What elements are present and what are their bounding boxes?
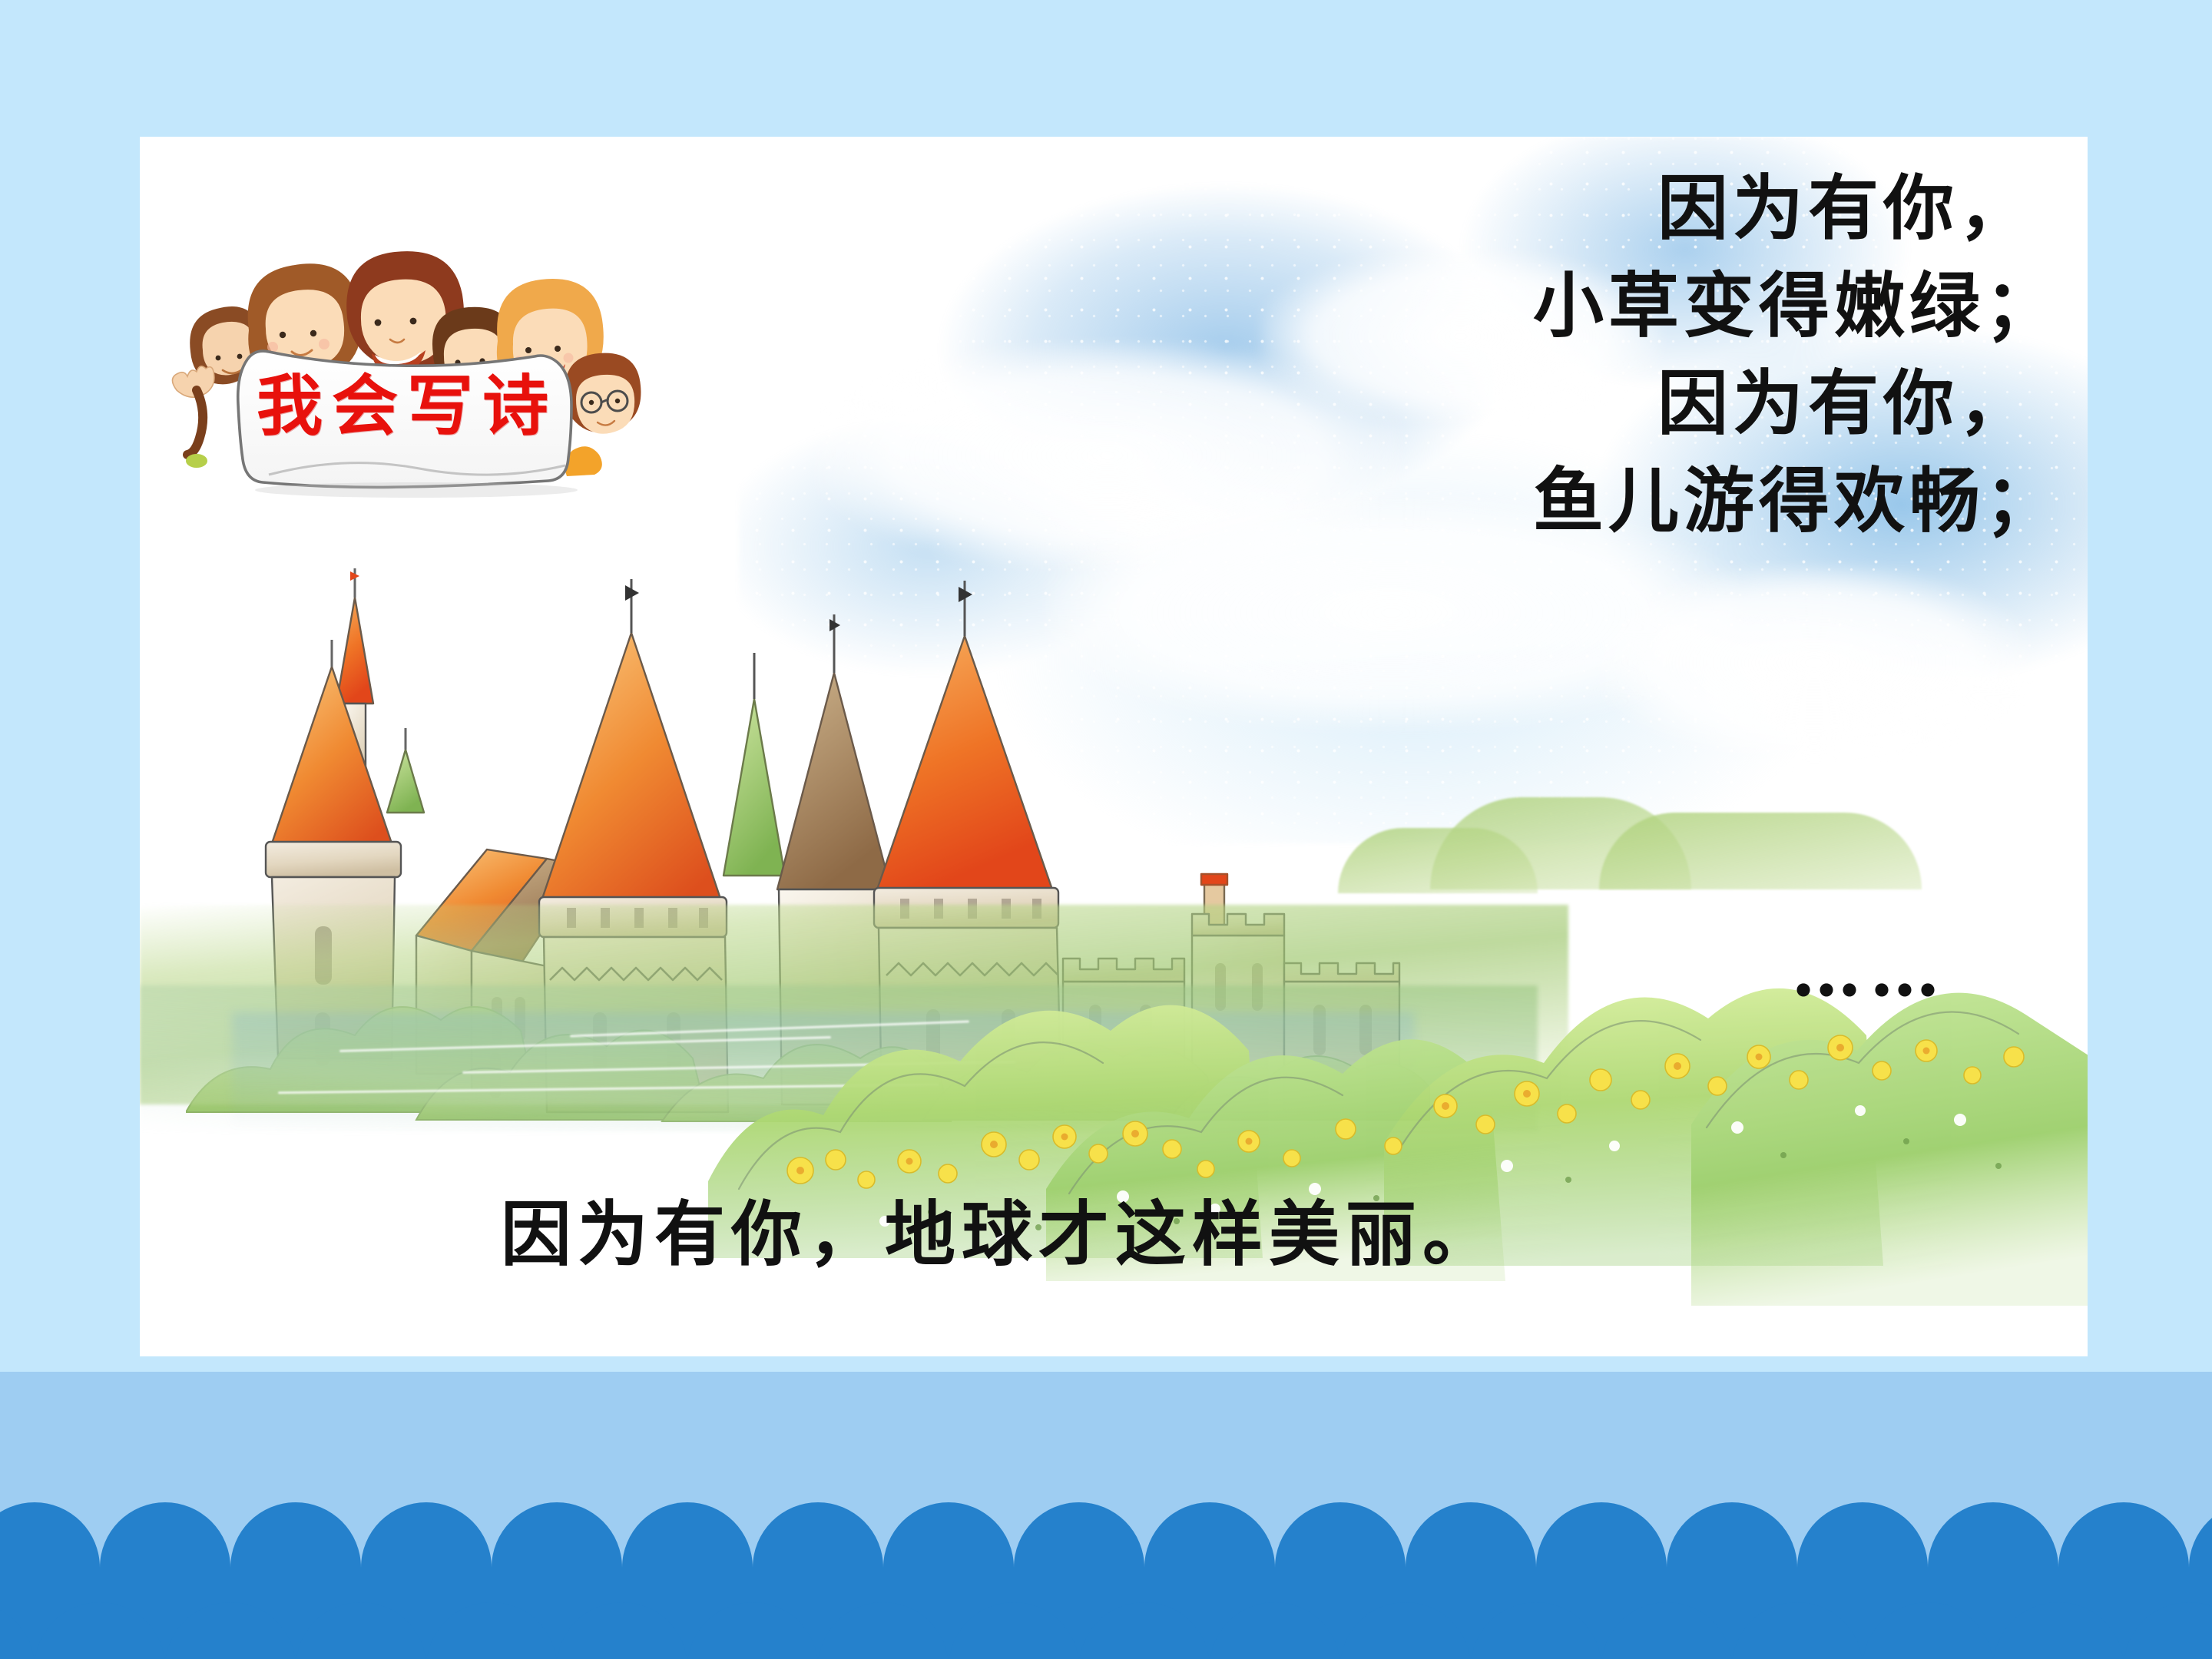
arch-shape [35,1602,165,1659]
arch-shape [165,1602,296,1659]
poem-line: 鱼儿游得欢畅； [1323,452,2060,550]
arch-shape [949,1602,1079,1659]
arch-shape [296,1602,426,1659]
poem-text: 因为有你， 小草变得嫩绿； 因为有你， 鱼儿游得欢畅； [1323,160,2060,550]
poem-stanza-2: 因为有你， 鱼儿游得欢畅； [1323,355,2060,550]
arch-row-bottom [0,1602,2212,1659]
arch-shape [1993,1602,2124,1659]
arch-shape [1340,1602,1471,1659]
poem-line: 小草变得嫩绿； [1323,257,2060,355]
arch-shape [818,1602,949,1659]
poem-closing-line: 因为有你，地球才这样美丽。 [501,1177,1499,1280]
arch-shape [1732,1602,1863,1659]
arch-shape [1601,1602,1732,1659]
slide-root: 我会写诗 因为有你， 小草变得嫩绿； 因为有你， 鱼儿游得欢畅； …… 因为有你… [0,0,2212,1659]
arch-shape [687,1602,818,1659]
poem-ellipsis: …… [1791,935,1948,1006]
bottom-decoration-band [0,1372,2212,1659]
arch-shape [1210,1602,1340,1659]
poem-line: 因为有你， [1323,355,2060,452]
arch-shape [2124,1602,2212,1659]
arch-shape [1471,1602,1601,1659]
poem-line: 因为有你， [1323,160,2060,257]
arch-shape [557,1602,687,1659]
content-card: 我会写诗 因为有你， 小草变得嫩绿； 因为有你， 鱼儿游得欢畅； …… 因为有你… [140,137,2088,1356]
arch-shape [0,1602,35,1659]
banner-title: 我会写诗 [253,353,561,445]
arch-shape [426,1602,557,1659]
children-group-illustration: 我会写诗 [163,160,647,498]
arch-shape [1079,1602,1210,1659]
distant-hill [1599,813,1922,889]
poem-stanza-1: 因为有你， 小草变得嫩绿； [1323,160,2060,355]
arch-shape [1863,1602,1993,1659]
cloud-shape [1599,567,2029,759]
